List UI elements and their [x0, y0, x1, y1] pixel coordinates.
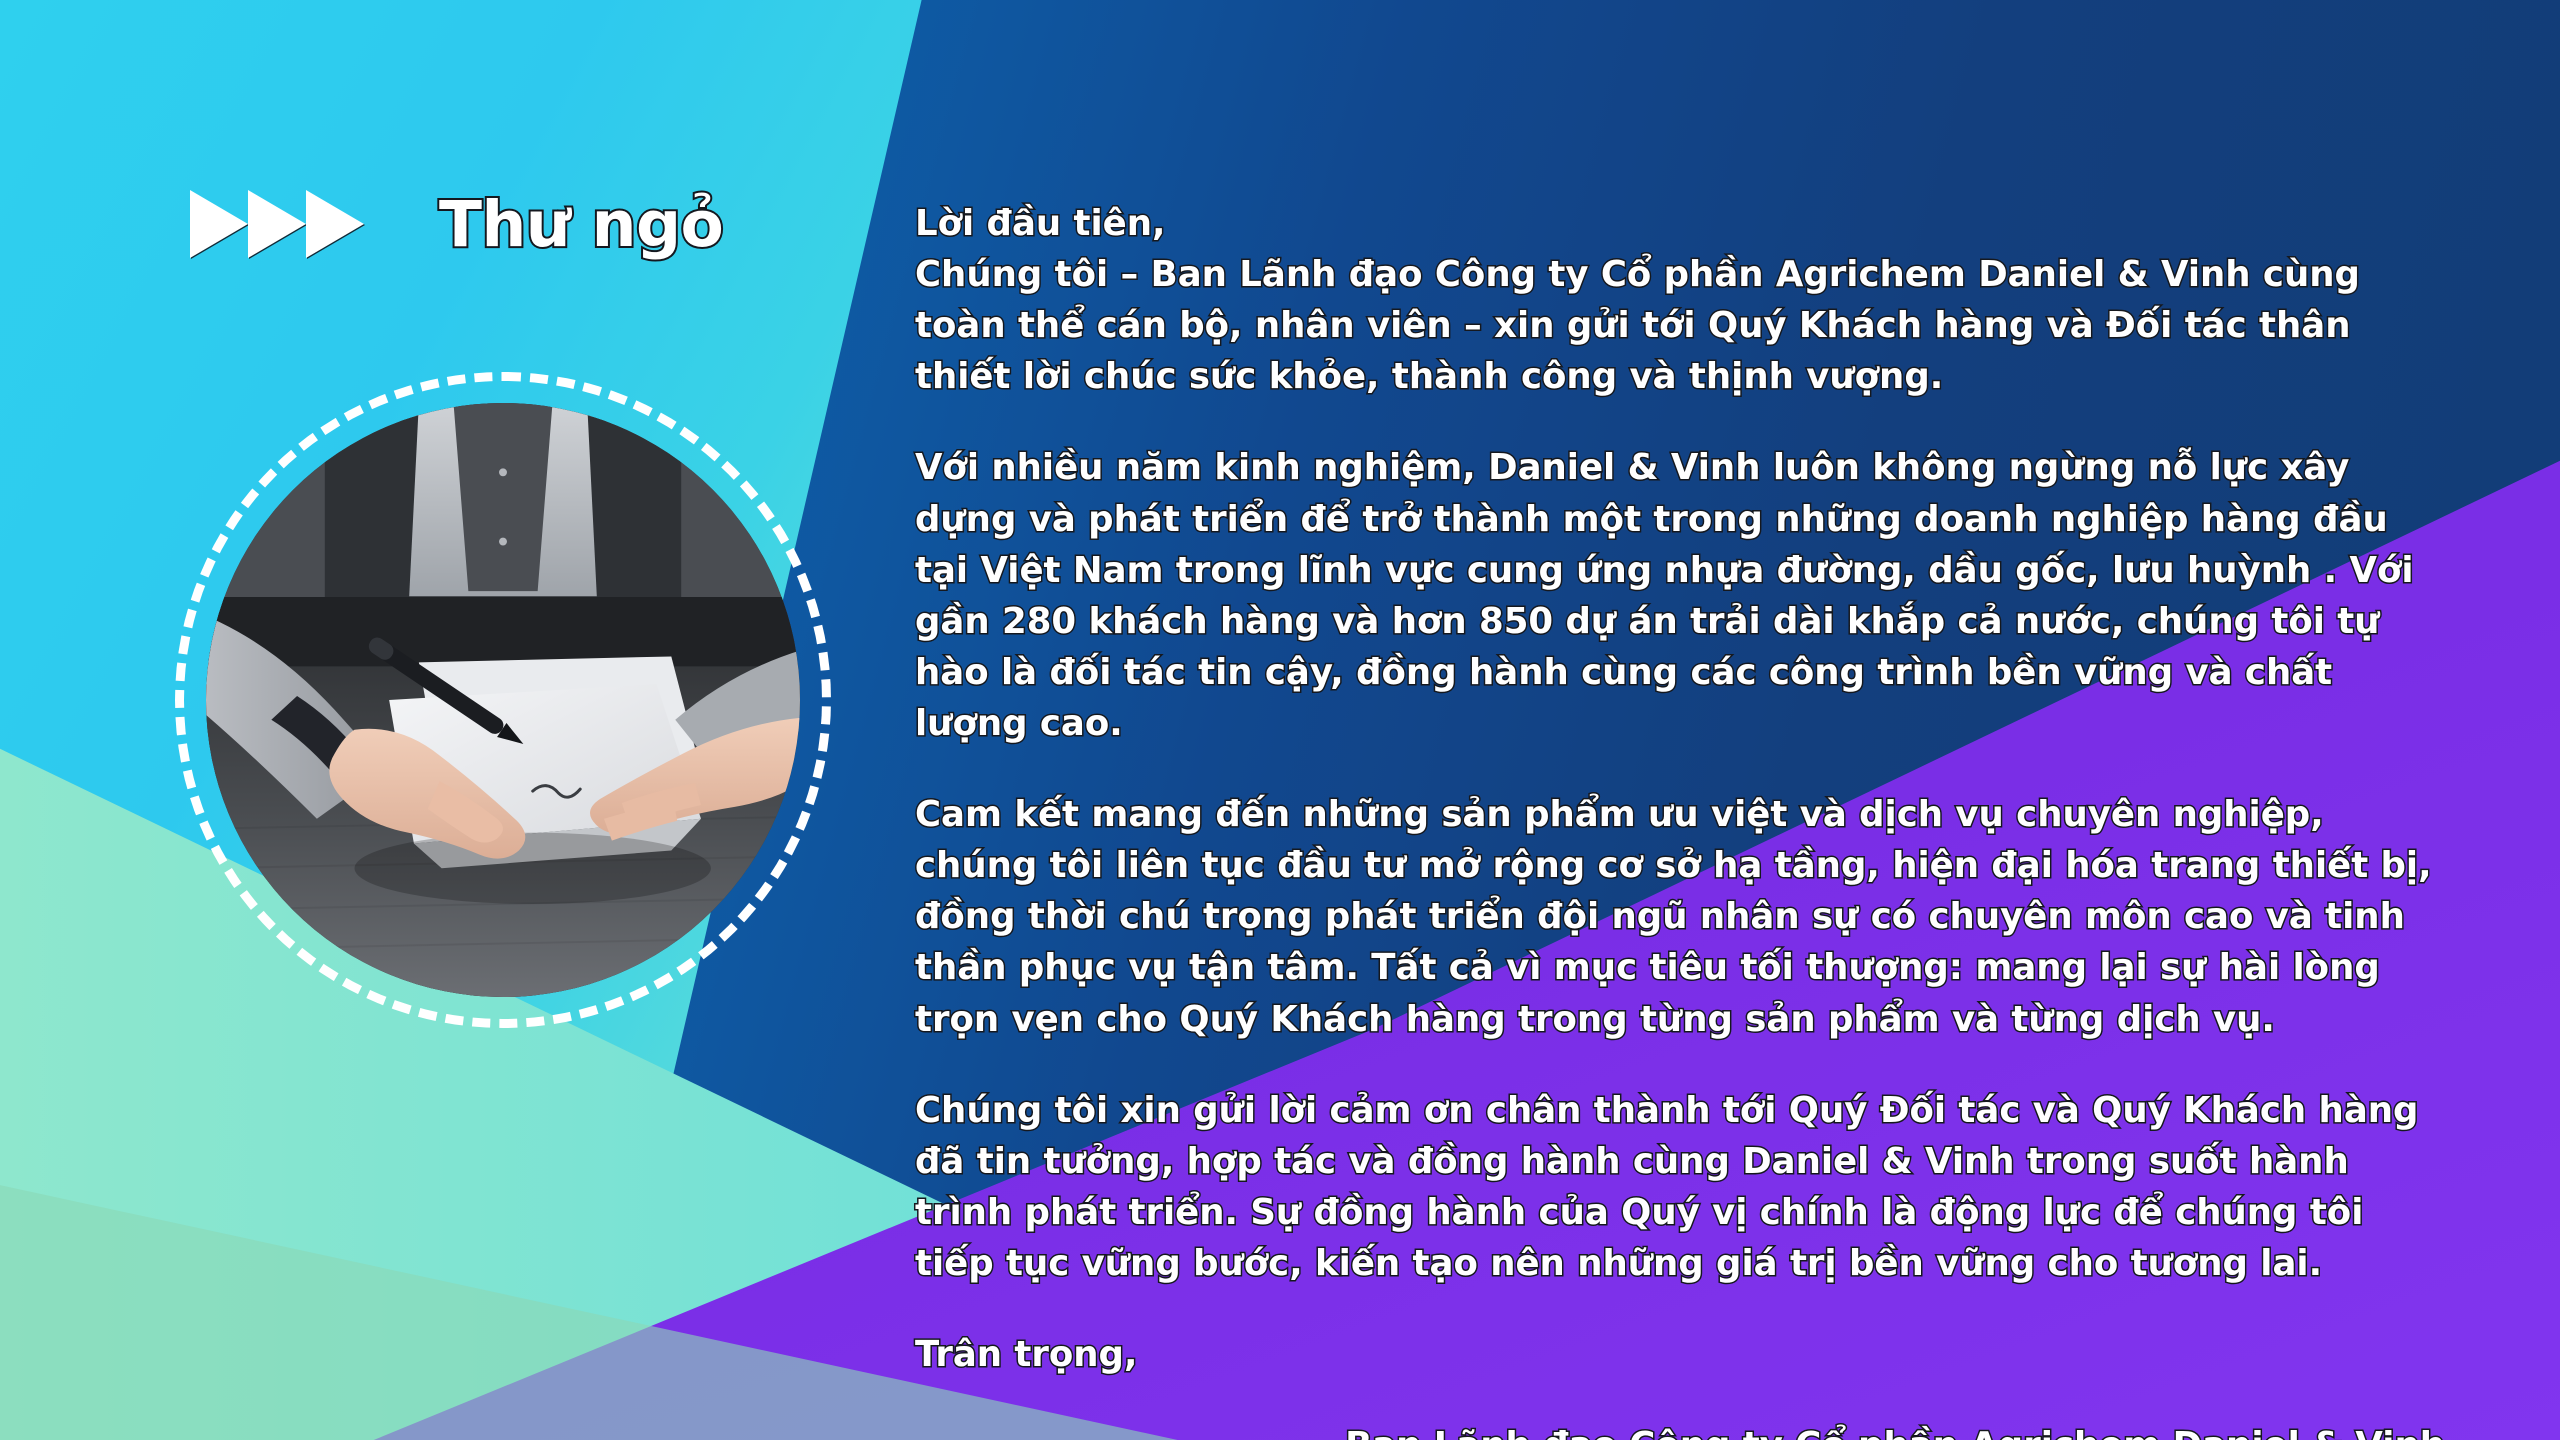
signing-document-photo	[206, 403, 800, 997]
letter-paragraph: Chúng tôi xin gửi lời cảm ơn chân thành …	[915, 1085, 2445, 1289]
slide-header: Thư ngỏ	[190, 190, 723, 258]
letter-paragraph: Lời đầu tiên, Chúng tôi – Ban Lãnh đạo C…	[915, 198, 2445, 402]
page-title: Thư ngỏ	[439, 193, 723, 256]
play-arrow-icon	[306, 190, 364, 258]
play-arrow-icon	[248, 190, 306, 258]
triple-arrow-group	[190, 190, 364, 258]
slide-root: Thư ngỏ	[0, 0, 2560, 1440]
letter-signature: Ban Lãnh đạo Công ty Cổ phần Agrichem Da…	[915, 1420, 2445, 1440]
letter-paragraph: Cam kết mang đến những sản phẩm ưu việt …	[915, 789, 2445, 1045]
letter-sign-off: Trân trọng,	[915, 1329, 2445, 1380]
play-arrow-icon	[190, 190, 248, 258]
letter-paragraph: Với nhiều năm kinh nghiệm, Daniel & Vinh…	[915, 442, 2445, 749]
letter-body: Lời đầu tiên, Chúng tôi – Ban Lãnh đạo C…	[915, 198, 2445, 1440]
photo-frame	[175, 372, 831, 1028]
